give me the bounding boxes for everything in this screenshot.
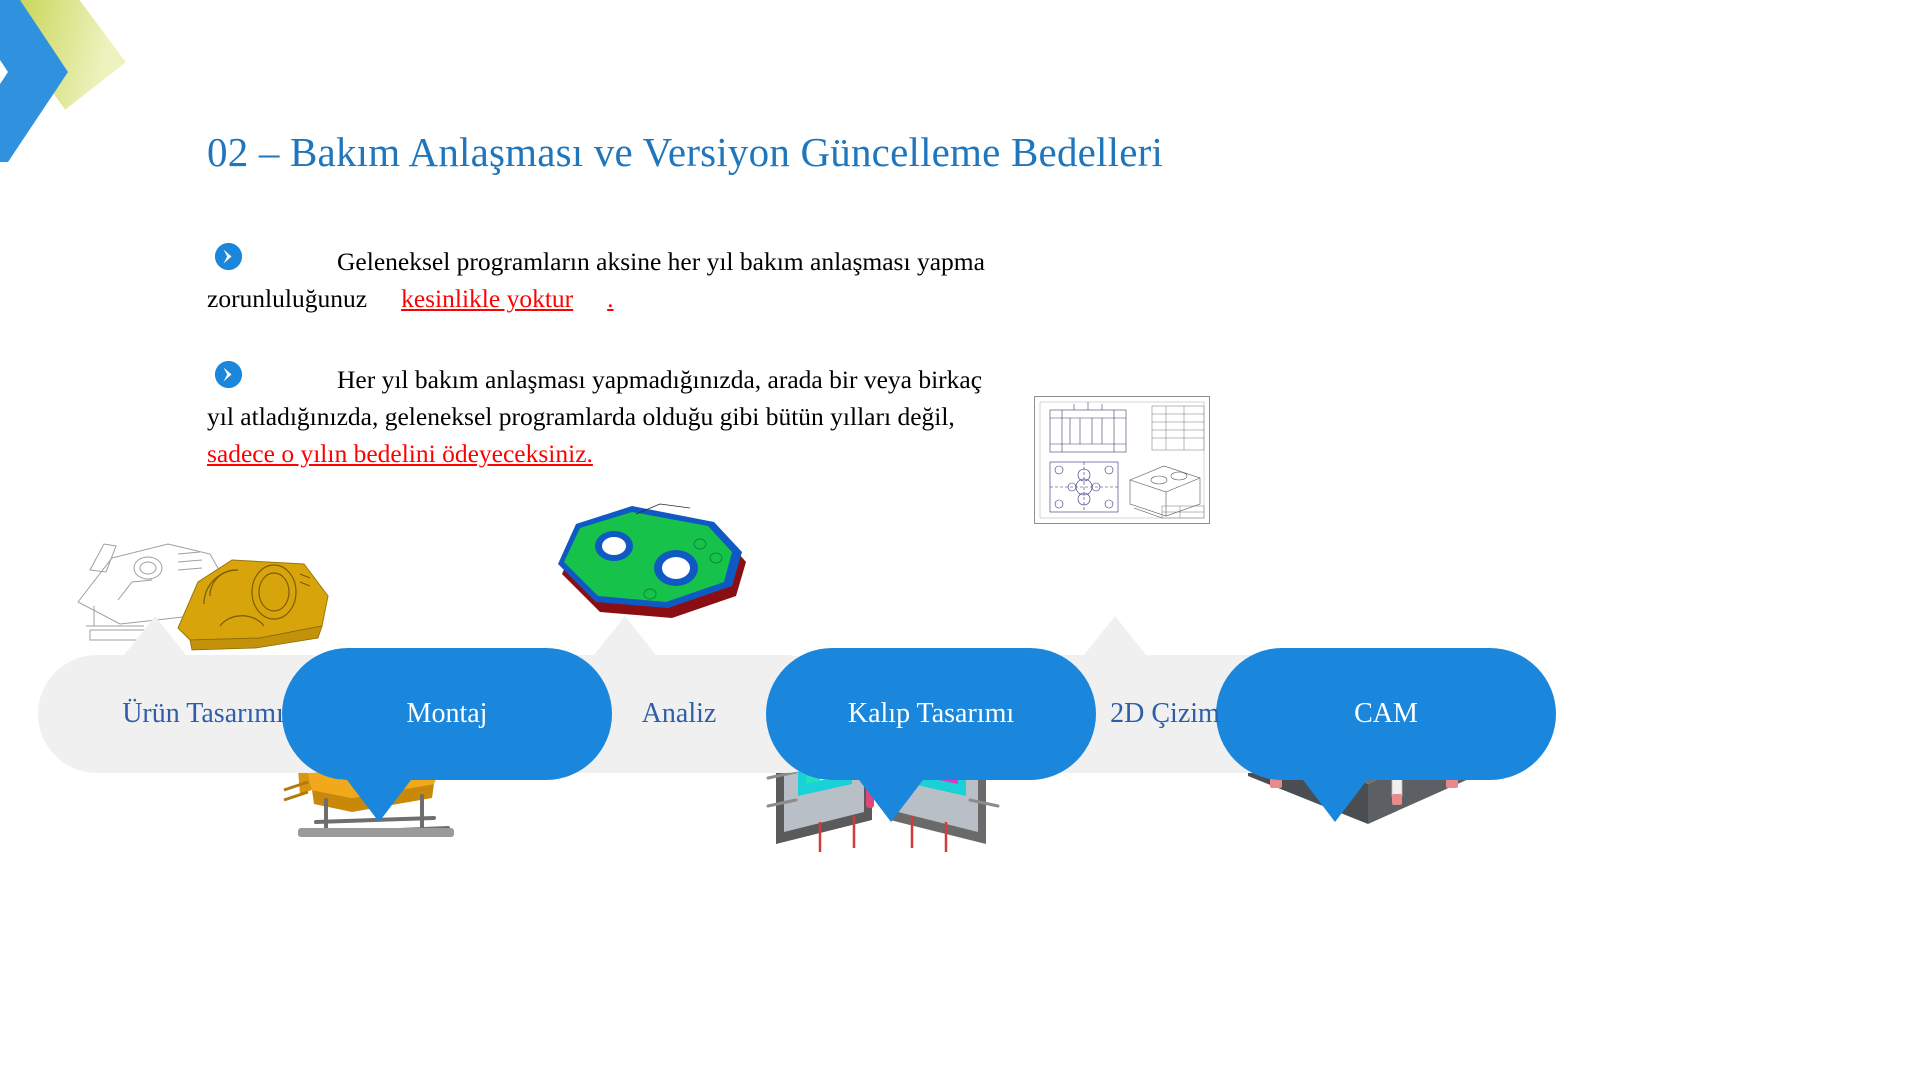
corner-chevron-decoration xyxy=(0,0,230,210)
bullet-paragraph-2-text: Her yıl bakım anlaşması yapmadığınızda, … xyxy=(207,361,1297,472)
pill-tail-kalip-tasarimi xyxy=(856,776,926,822)
pill-tail-2d-cizim xyxy=(1080,616,1150,660)
bullet-paragraph-2: Her yıl bakım anlaşması yapmadığınızda, … xyxy=(207,361,1297,472)
p2-line2: yıl atladığınızda, geleneksel programlar… xyxy=(207,398,955,435)
pill-tail-analiz xyxy=(590,616,660,660)
chevron-blue-shape xyxy=(0,0,68,162)
analysis-fea-part xyxy=(540,500,760,640)
p1-line1: Geleneksel programların aksine her yıl b… xyxy=(337,247,985,276)
p1-line2-plain: zorunluluğunuz xyxy=(207,280,367,317)
chevron-right-circle-icon xyxy=(215,361,242,388)
pill-label-urun-tasarimi: Ürün Tasarımı xyxy=(122,698,284,730)
bullet-paragraph-1-text: Geleneksel programların aksine her yıl b… xyxy=(207,243,1297,317)
p2-highlight: sadece o yılın bedelini ödeyeceksiniz. xyxy=(207,435,593,472)
page-title: 02 – Bakım Anlaşması ve Versiyon Güncell… xyxy=(207,128,1163,176)
pill-label-montaj: Montaj xyxy=(407,698,488,730)
chevron-green-shape xyxy=(0,0,128,110)
pill-cam[interactable]: CAM xyxy=(1216,648,1556,780)
pill-tail-montaj xyxy=(344,776,414,822)
pill-label-2d-cizim: 2D Çizim xyxy=(1110,698,1220,730)
p1-highlight: kesinlikle yoktur xyxy=(401,284,573,313)
p2-line1: Her yıl bakım anlaşması yapmadığınızda, … xyxy=(337,365,982,394)
product-design-planer-cad xyxy=(60,510,340,660)
p1-period: . xyxy=(607,284,613,313)
chevron-right-circle-icon xyxy=(215,243,242,270)
pill-tail-cam xyxy=(1300,776,1370,822)
pill-label-kalip-tasarimi: Kalıp Tasarımı xyxy=(848,698,1014,730)
bullet-paragraph-1: Geleneksel programların aksine her yıl b… xyxy=(207,243,1297,317)
pill-tail-urun-tasarimi xyxy=(120,616,190,660)
pill-label-cam: CAM xyxy=(1354,698,1418,730)
pill-label-analiz: Analiz xyxy=(642,698,717,730)
